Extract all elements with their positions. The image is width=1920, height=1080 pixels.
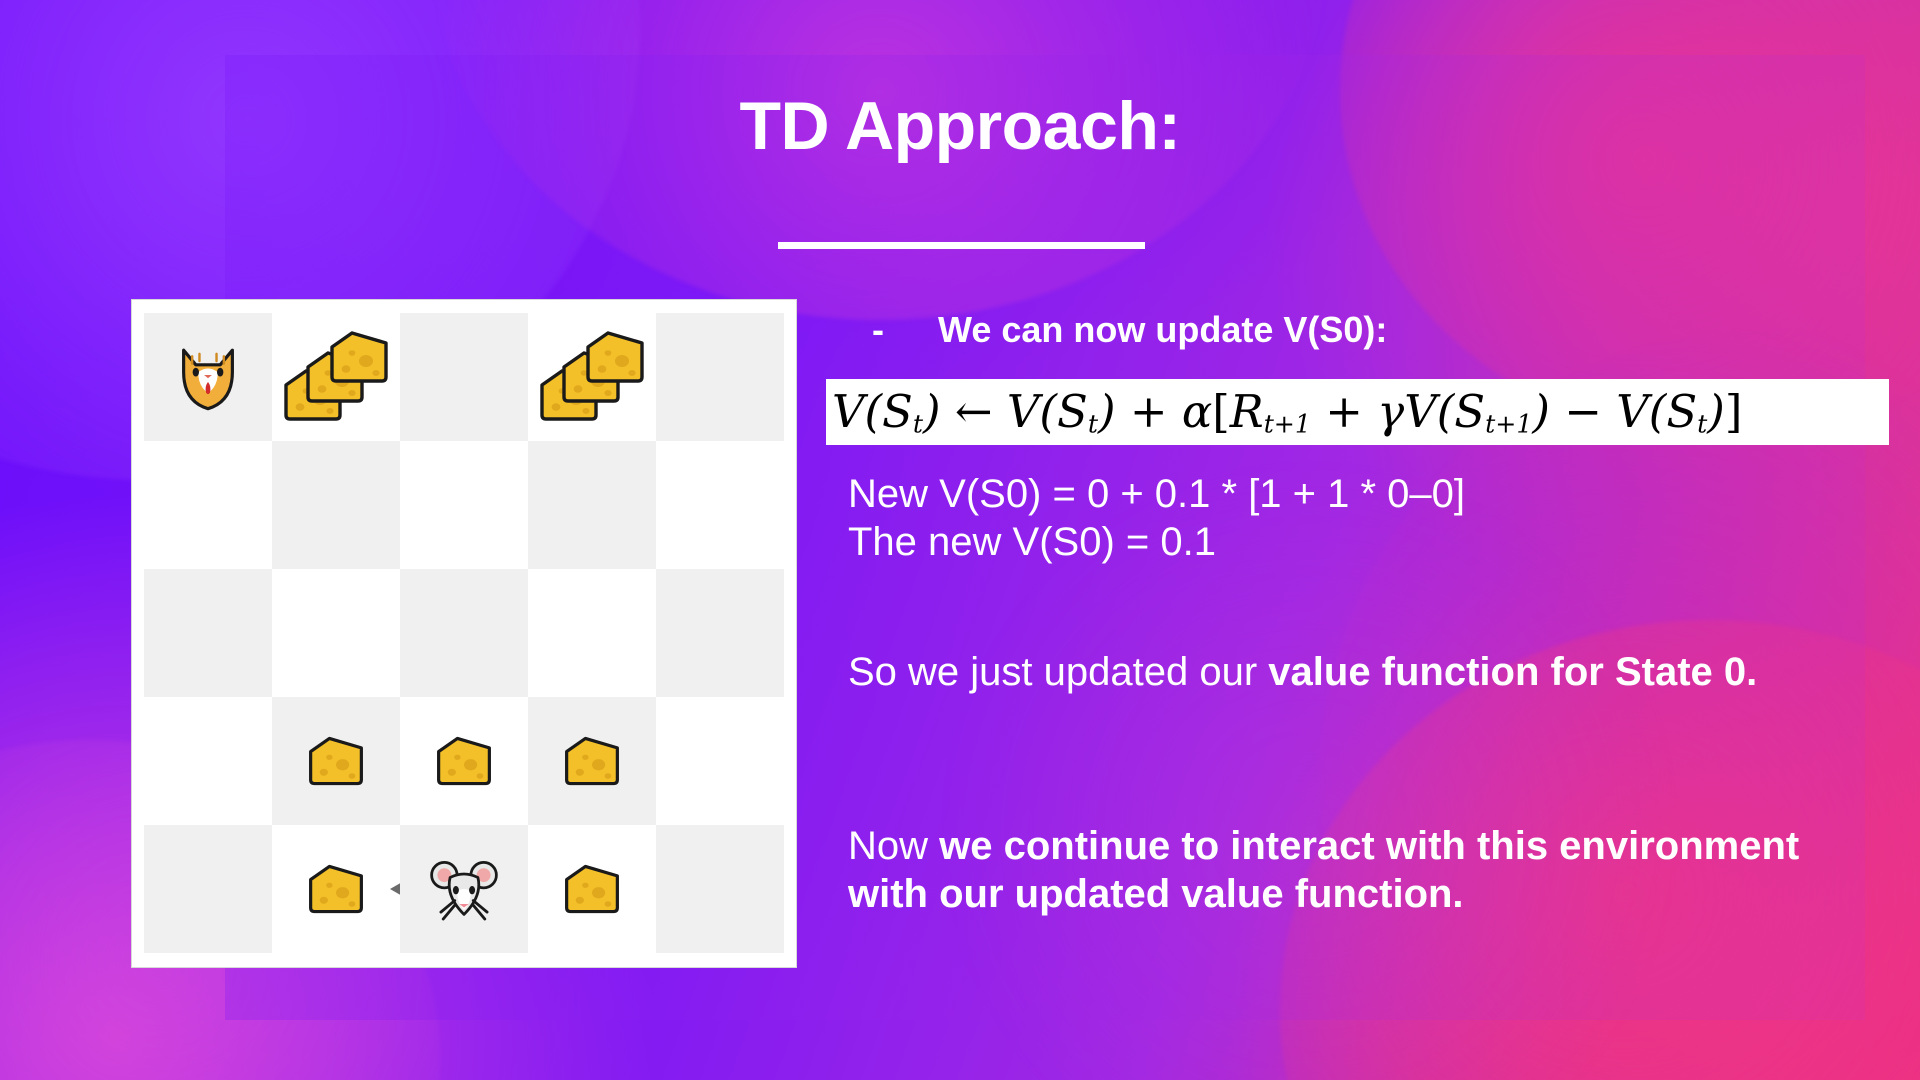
td-update-formula: V(St) ← V(St) + α[Rt+1 + γV(St+1) − V(St… [826, 385, 1742, 439]
grid-cell-r3c4[interactable] [528, 569, 656, 697]
grid-cell-r5c5[interactable] [656, 825, 784, 953]
cheese-wedge-icon [433, 734, 495, 788]
grid-cell-r2c2[interactable] [272, 441, 400, 569]
calculation-block: New V(S0) = 0 + 0.1 * [1 + 1 * 0–0] The … [848, 470, 1858, 567]
grid-cell-r1c3[interactable] [400, 313, 528, 441]
cheese-wedge-icon [326, 329, 392, 385]
grid-cell-r3c5[interactable] [656, 569, 784, 697]
formula-next-v: V(S [1404, 385, 1485, 438]
grid-cell-r1c5[interactable] [656, 313, 784, 441]
formula-arrow: ← [955, 385, 993, 438]
cheese-stack-icon [536, 329, 648, 425]
grid-cell-r3c2[interactable] [272, 569, 400, 697]
formula-last-v-sub: t [1697, 410, 1707, 439]
grid-cell-r1c4[interactable] [528, 313, 656, 441]
cheese-wedge-icon [305, 862, 367, 916]
grid-cell-r4c2[interactable] [272, 697, 400, 825]
bullet-line: - We can now update V(S0): [872, 309, 1872, 351]
formula-reward-sub: t+1 [1264, 410, 1311, 439]
paragraph-continue-emphasis: we continue to interact with this enviro… [848, 824, 1799, 916]
grid-cell-r2c1[interactable] [144, 441, 272, 569]
bullet-label: We can now update V(S0): [938, 309, 1387, 351]
formula-last-v-close: ) [1707, 385, 1725, 438]
formula-term1-sub: t [1088, 410, 1098, 439]
cheese-sprite [400, 697, 528, 825]
cheese-sprite [528, 825, 656, 953]
cheese-wedge-icon [582, 329, 648, 385]
cheese-stack-sprite [272, 313, 400, 441]
formula-close-bracket: ] [1725, 385, 1743, 438]
formula-last-v: V(S [1616, 385, 1697, 438]
formula-alpha: α [1182, 385, 1212, 438]
cheese-sprite [272, 697, 400, 825]
paragraph-updated-prefix: So we just updated our [848, 650, 1268, 694]
formula-lhs-sub: t [913, 410, 923, 439]
calc-line-result: The new V(S0) = 0.1 [848, 518, 1858, 566]
grid-cell-r5c3[interactable] [400, 825, 528, 953]
grid-cell-r1c2[interactable] [272, 313, 400, 441]
cat-icon [169, 338, 247, 416]
cheese-wedge-icon [305, 734, 367, 788]
gridworld-cells [144, 313, 784, 953]
formula-gamma: γ [1377, 385, 1404, 438]
formula-minus: − [1564, 385, 1602, 438]
mouse-icon [427, 852, 501, 926]
formula-term1-close: ) [1098, 385, 1116, 438]
cheese-stack-icon [280, 329, 392, 425]
grid-cell-r4c5[interactable] [656, 697, 784, 825]
formula-lhs-close: ) [923, 385, 941, 438]
gridworld-board [131, 299, 797, 968]
grid-cell-r4c1[interactable] [144, 697, 272, 825]
grid-cell-r4c3[interactable] [400, 697, 528, 825]
page-title: TD Approach: [0, 92, 1920, 160]
paragraph-continue-prefix: Now [848, 824, 939, 868]
grid-cell-r1c1[interactable] [144, 313, 272, 441]
cheese-wedge-icon [561, 734, 623, 788]
formula-next-v-sub: t+1 [1485, 410, 1532, 439]
paragraph-updated: So we just updated our value function fo… [848, 648, 1858, 696]
paragraph-continue: Now we continue to interact with this en… [848, 822, 1858, 919]
formula-reward: R [1230, 385, 1264, 438]
paragraph-updated-emphasis: value function for State 0. [1268, 650, 1757, 694]
calc-line-new-value: New V(S0) = 0 + 0.1 * [1 + 1 * 0–0] [848, 470, 1858, 518]
grid-cell-r5c2[interactable] [272, 825, 400, 953]
cheese-stack-sprite [528, 313, 656, 441]
cheese-with-arrow-sprite [272, 825, 400, 953]
slide-canvas: TD Approach: [0, 0, 1920, 1080]
grid-cell-r5c4[interactable] [528, 825, 656, 953]
formula-open-bracket: [ [1212, 385, 1230, 438]
formula-next-v-close: ) [1532, 385, 1550, 438]
title-underline-rule [778, 242, 1145, 249]
cheese-sprite [528, 697, 656, 825]
cheese-wedge-icon [561, 862, 623, 916]
grid-cell-r2c4[interactable] [528, 441, 656, 569]
cat-sprite [144, 313, 272, 441]
formula-plus-2: + [1325, 385, 1363, 438]
mouse-sprite [400, 825, 528, 953]
grid-cell-r3c1[interactable] [144, 569, 272, 697]
grid-cell-r5c1[interactable] [144, 825, 272, 953]
bullet-dash-marker: - [872, 309, 938, 351]
grid-cell-r2c5[interactable] [656, 441, 784, 569]
formula-plus-1: + [1130, 385, 1168, 438]
formula-lhs: V(S [832, 385, 913, 438]
td-update-formula-box: V(St) ← V(St) + α[Rt+1 + γV(St+1) − V(St… [826, 379, 1889, 445]
grid-cell-r2c3[interactable] [400, 441, 528, 569]
formula-term1: V(S [1007, 385, 1088, 438]
grid-cell-r3c3[interactable] [400, 569, 528, 697]
grid-cell-r4c4[interactable] [528, 697, 656, 825]
